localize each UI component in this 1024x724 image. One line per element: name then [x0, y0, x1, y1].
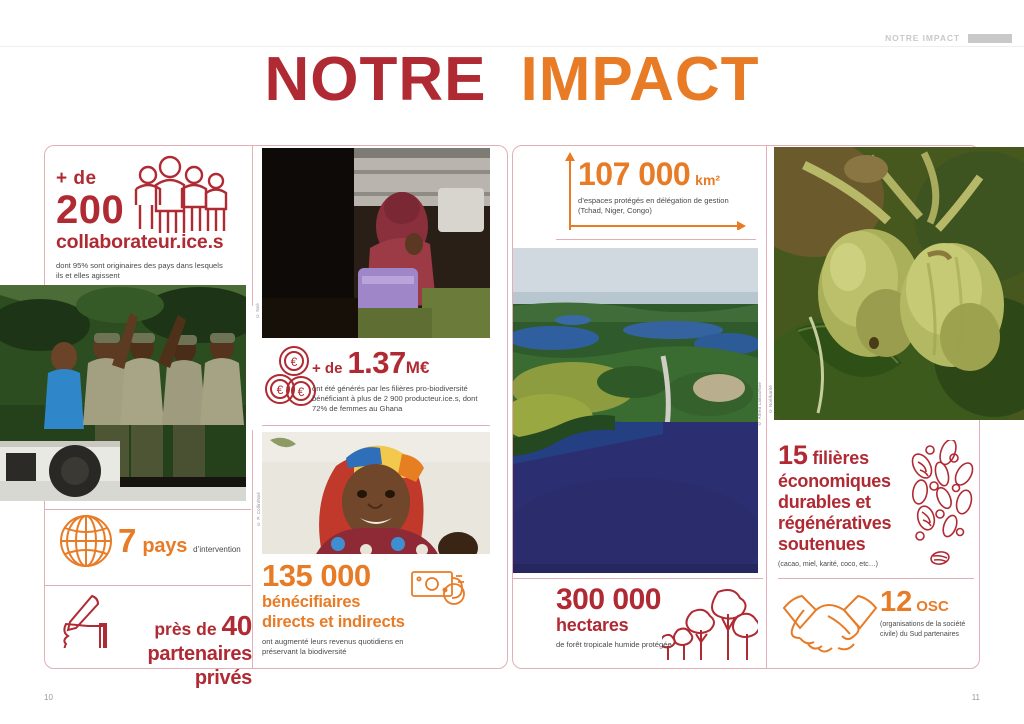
divider-hectares-top: [513, 578, 763, 579]
stat-filieres-number: 15: [778, 440, 808, 470]
divider-pays-top: [45, 509, 251, 510]
stat-beneficiaires-label-1: bénécifiaires: [262, 592, 437, 612]
stat-hectares-description: de forêt tropicale humide protégée: [556, 640, 696, 650]
stat-filieres-label-4: régénératives: [778, 513, 898, 534]
hand-signing-icon: [58, 592, 124, 653]
stat-partenaires-label: partenaires privés: [118, 642, 252, 690]
stat-partenaires-prefix: près de: [154, 619, 216, 639]
stat-euros-number: 1.37: [347, 347, 405, 378]
stat-filieres: 15 filières économiques durables et régé…: [778, 440, 898, 569]
divider-pays-bottom: [45, 585, 251, 586]
aerial-forest-lake-photo: [513, 248, 758, 573]
stat-euros-description: ont été générés par les filières pro-bio…: [312, 384, 490, 415]
stat-filieres-label-1: filières: [812, 448, 868, 468]
header-divider: [0, 46, 1024, 47]
running-head: NOTRE IMPACT: [885, 33, 1012, 43]
seeds-beans-icon: [906, 440, 976, 575]
stat-hectares: 300 000 hectares de forêt tropicale humi…: [556, 585, 696, 650]
stat-hectares-number: 300 000: [556, 585, 696, 615]
stat-hectares-label: hectares: [556, 615, 696, 636]
stat-filieres-description: (cacao, miel, karité, coco, etc…): [778, 560, 898, 569]
stat-beneficiaires-label-2: directs et indirects: [262, 612, 437, 632]
globe-icon: [58, 513, 114, 574]
stat-km2-description: d’espaces protégés en délégation de gest…: [578, 196, 730, 216]
divider-vertical-3: [766, 146, 767, 669]
page-title-part1: NOTRE: [264, 45, 486, 114]
divider-km-bottom: [556, 239, 756, 240]
stat-collaborateurs: + de 200 collaborateur.ice.s dont 95% so…: [56, 168, 246, 281]
stat-pays-number: 7: [118, 524, 136, 557]
rangers-on-truck-photo: [0, 285, 246, 501]
page-number-right: 11: [972, 693, 980, 702]
svg-text:€: €: [291, 355, 298, 369]
stat-euros-unit: M€: [406, 358, 430, 378]
photo-credit-aerial-forest: © Alfred Ladoa/Noé: [757, 382, 762, 426]
stat-km2-unit: km²: [695, 172, 720, 188]
stat-pays: 7 pays d’intervention: [118, 524, 241, 558]
page-number-left: 10: [44, 693, 53, 702]
handshake-icon: [782, 590, 878, 661]
stat-km2-number: 107 000: [578, 158, 690, 190]
stat-pays-label: pays: [142, 535, 187, 558]
stat-beneficiaires: 135 000 bénécifiaires directs et indirec…: [262, 560, 437, 657]
stat-collaborateurs-label: collaborateur.ice.s: [56, 230, 246, 254]
stat-collaborateurs-number: 200: [56, 190, 246, 230]
stat-filieres-label-3: durables et: [778, 492, 898, 513]
photo-credit-woman-sorting: © Noé: [255, 303, 260, 318]
stat-collaborateurs-prefix: + de: [56, 168, 246, 190]
divider-vertical-1: [252, 146, 253, 306]
photo-credit-woman-portrait: © P. Collin/Noé: [256, 492, 261, 526]
stat-pays-tail: d’intervention: [193, 545, 241, 554]
smiling-woman-portrait-photo: [262, 432, 490, 554]
stat-partenaires: près de 40 partenaires privés: [118, 610, 252, 690]
stat-filieres-label-2: économiques: [778, 471, 898, 492]
svg-text:€: €: [298, 385, 305, 399]
stat-partenaires-number: 40: [221, 610, 252, 641]
stat-osc-description: (organisations de la société civile) du …: [880, 620, 976, 640]
divider-euro-bottom: [262, 425, 490, 426]
stat-euros-prefix: + de: [312, 360, 342, 377]
impact-page: NOTRE IMPACT NOTREIMPACT: [0, 0, 1024, 724]
divider-vertical-2: [252, 430, 253, 668]
running-head-bar: [968, 34, 1012, 43]
stat-collaborateurs-description: dont 95% sont originaires des pays dans …: [56, 261, 232, 281]
divider-filieres-bottom: [778, 578, 974, 579]
page-title: NOTREIMPACT: [0, 48, 1024, 112]
page-title-part2: IMPACT: [520, 45, 759, 114]
euro-coins-icon: € € €: [264, 345, 318, 412]
svg-text:€: €: [277, 383, 284, 397]
photo-credit-shea-fruits: © Noé/karité: [768, 385, 773, 414]
stat-filieres-label-5: soutenues: [778, 534, 898, 555]
stat-euros: + de 1.37 M€ ont été générés par les fil…: [312, 347, 492, 415]
woman-sorting-seeds-photo: [262, 148, 490, 338]
stat-km2: 107 000 km² d’espaces protégés en déléga…: [578, 158, 746, 216]
stat-beneficiaires-description: ont augmenté leurs revenus quotidiens en…: [262, 637, 437, 657]
stat-osc: 12 OSC (organisations de la société civi…: [880, 588, 976, 640]
shea-fruits-photo: [774, 147, 1024, 420]
stat-osc-number: 12: [880, 588, 912, 617]
stat-beneficiaires-number: 135 000: [262, 560, 437, 592]
stat-osc-unit: OSC: [916, 598, 949, 615]
running-head-label: NOTRE IMPACT: [885, 33, 960, 43]
